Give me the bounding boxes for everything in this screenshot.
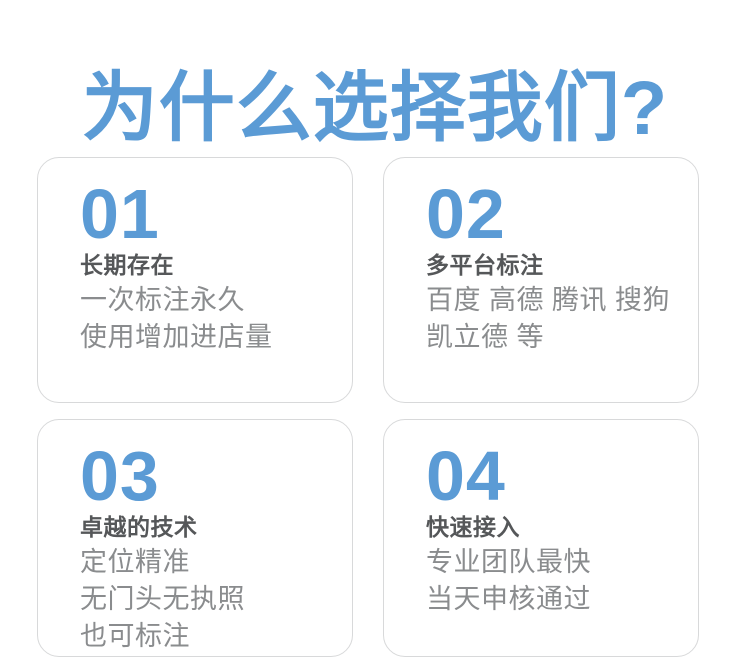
feature-card-grid: 01 长期存在 一次标注永久 使用增加进店量 02 多平台标注 百度 高德 腾讯… xyxy=(37,157,699,657)
card-line-list: 定位精准 无门头无执照 也可标注 xyxy=(80,544,352,655)
card-line: 百度 高德 腾讯 搜狗 xyxy=(426,282,698,319)
card-number: 02 xyxy=(426,186,698,243)
card-line: 凯立德 等 xyxy=(426,319,698,356)
card-heading: 长期存在 xyxy=(80,249,352,282)
page-title: 为什么选择我们? xyxy=(0,65,750,152)
card-line: 当天申核通过 xyxy=(426,581,698,618)
card-heading: 卓越的技术 xyxy=(80,511,352,544)
card-line: 使用增加进店量 xyxy=(80,319,352,356)
card-heading: 多平台标注 xyxy=(426,249,698,282)
card-line: 一次标注永久 xyxy=(80,282,352,319)
card-line: 专业团队最快 xyxy=(426,544,698,581)
card-number: 03 xyxy=(80,448,352,505)
card-line: 无门头无执照 xyxy=(80,581,352,618)
feature-card-01[interactable]: 01 长期存在 一次标注永久 使用增加进店量 xyxy=(37,157,353,403)
card-line-list: 专业团队最快 当天申核通过 xyxy=(426,544,698,618)
feature-card-02[interactable]: 02 多平台标注 百度 高德 腾讯 搜狗 凯立德 等 xyxy=(383,157,699,403)
card-line: 也可标注 xyxy=(80,618,352,655)
feature-card-03[interactable]: 03 卓越的技术 定位精准 无门头无执照 也可标注 xyxy=(37,419,353,657)
card-number: 04 xyxy=(426,448,698,505)
card-number: 01 xyxy=(80,186,352,243)
feature-card-04[interactable]: 04 快速接入 专业团队最快 当天申核通过 xyxy=(383,419,699,657)
card-heading: 快速接入 xyxy=(426,511,698,544)
card-line: 定位精准 xyxy=(80,544,352,581)
card-line-list: 一次标注永久 使用增加进店量 xyxy=(80,282,352,356)
promo-page: 为什么选择我们? 01 长期存在 一次标注永久 使用增加进店量 02 多平台标注… xyxy=(0,0,750,668)
card-line-list: 百度 高德 腾讯 搜狗 凯立德 等 xyxy=(426,282,698,356)
